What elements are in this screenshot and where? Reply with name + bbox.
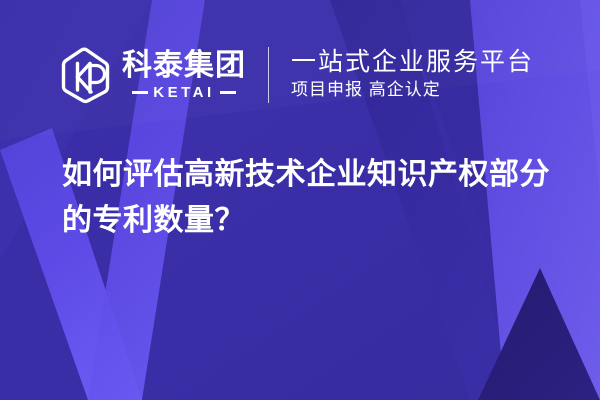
page-title: 如何评估高新技术企业知识产权部分的专利数量？ [62, 152, 562, 243]
promo-banner: 科泰集团 KETAI 一站式企业服务平台 项目申报 高企认定 如何评估高新技术企… [0, 0, 600, 400]
tagline-secondary: 项目申报 高企认定 [291, 79, 534, 102]
brand-name-en-row: KETAI [122, 85, 246, 100]
banner-header: 科泰集团 KETAI 一站式企业服务平台 项目申报 高企认定 [60, 38, 534, 112]
header-divider [268, 47, 269, 103]
brand-name-en: KETAI [148, 85, 219, 100]
brand-wordmark: 科泰集团 KETAI [122, 50, 246, 100]
brand-tagline: 一站式企业服务平台 项目申报 高企认定 [291, 48, 534, 102]
brand-logo[interactable]: 科泰集团 KETAI [60, 46, 246, 104]
tagline-primary: 一站式企业服务平台 [291, 48, 534, 78]
wordmark-dash-right [220, 91, 236, 94]
brand-name-cn: 科泰集团 [122, 50, 246, 82]
ketai-monogram-icon [60, 46, 112, 104]
wordmark-dash-left [132, 91, 148, 94]
